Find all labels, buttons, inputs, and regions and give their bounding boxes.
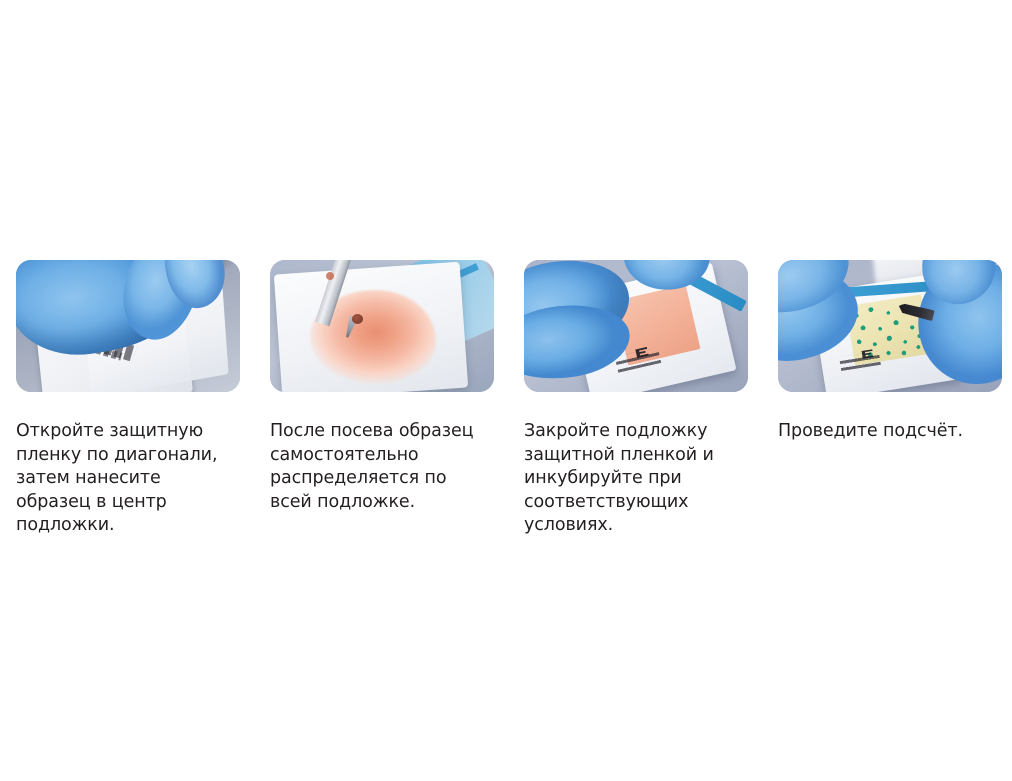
step-3-caption: Закройте подложку защитной пленкой и инк… [524,420,748,538]
step-1: Откройте защитную пленку по диагонали, з… [16,260,240,538]
photo-open-protective-film [16,260,240,392]
instruction-slide: Откройте защитную пленку по диагонали, з… [0,0,1012,781]
photo-inoculate-sample [270,260,494,392]
step-4-caption: Проведите подсчёт. [778,420,1002,444]
step-1-caption: Откройте защитную пленку по диагонали, з… [16,420,240,538]
step-4: Проведите подсчёт. [778,260,1002,444]
step-3: Закройте подложку защитной пленкой и инк… [524,260,748,538]
step-2-caption: После посева образец самостоятельно расп… [270,420,494,514]
steps-row: Откройте защитную пленку по диагонали, з… [16,260,1000,538]
photo-count-colonies [778,260,1002,392]
step-2: После посева образец самостоятельно расп… [270,260,494,514]
photo2-sample-droplet [352,314,363,324]
photo-close-film-and-incubate [524,260,748,392]
